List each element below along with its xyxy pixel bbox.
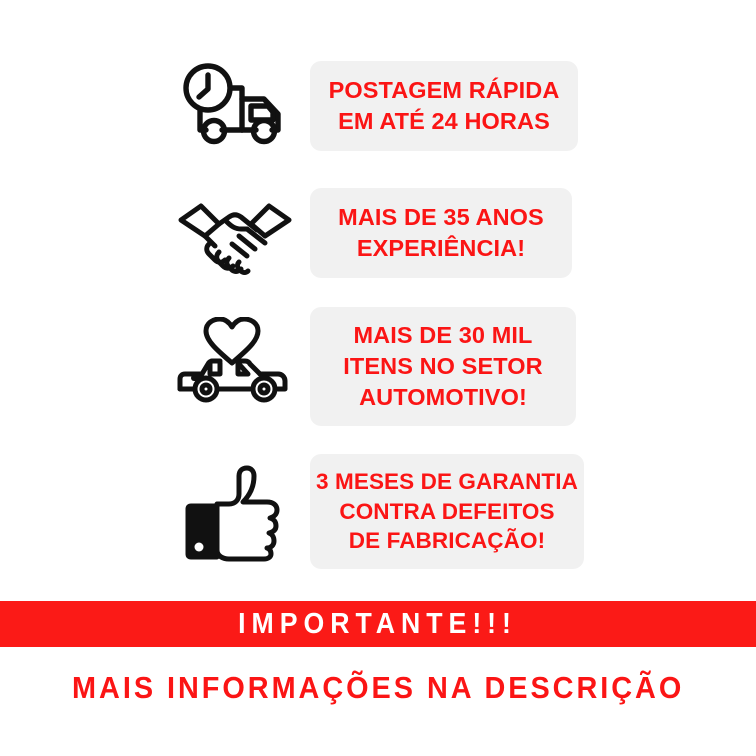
- feature-line: ITENS NO SETOR: [343, 351, 542, 382]
- thumbs-up-icon: [160, 462, 310, 562]
- feature-row: POSTAGEM RÁPIDA EM ATÉ 24 HORAS: [0, 40, 756, 172]
- feature-line: EM ATÉ 24 HORAS: [338, 106, 550, 137]
- feature-list: POSTAGEM RÁPIDA EM ATÉ 24 HORAS: [0, 0, 756, 590]
- feature-line: MAIS DE 30 MIL: [354, 320, 533, 351]
- description-label: MAIS INFORMAÇÕES NA DESCRIÇÃO: [72, 670, 684, 706]
- feature-row: MAIS DE 35 ANOS EXPERIÊNCIA!: [0, 172, 756, 294]
- feature-text-panel: 3 MESES DE GARANTIA CONTRA DEFEITOS DE F…: [310, 454, 584, 570]
- feature-line: MAIS DE 35 ANOS: [338, 202, 544, 233]
- convertible-car-heart-icon: [160, 317, 310, 417]
- promo-banner: POSTAGEM RÁPIDA EM ATÉ 24 HORAS: [0, 0, 756, 756]
- feature-text-panel: MAIS DE 30 MIL ITENS NO SETOR AUTOMOTIVO…: [310, 307, 576, 427]
- feature-line: 3 MESES DE GARANTIA: [316, 467, 578, 497]
- feature-line: AUTOMOTIVO!: [359, 382, 527, 413]
- delivery-truck-clock-icon: [160, 58, 310, 154]
- handshake-icon: [160, 188, 310, 278]
- description-callout: MAIS INFORMAÇÕES NA DESCRIÇÃO: [0, 660, 756, 716]
- feature-line: DE FABRICAÇÃO!: [349, 526, 545, 556]
- important-label: IMPORTANTE!!!: [239, 608, 518, 641]
- feature-row: 3 MESES DE GARANTIA CONTRA DEFEITOS DE F…: [0, 439, 756, 584]
- feature-text-panel: POSTAGEM RÁPIDA EM ATÉ 24 HORAS: [310, 61, 578, 152]
- feature-row: MAIS DE 30 MIL ITENS NO SETOR AUTOMOTIVO…: [0, 294, 756, 439]
- feature-line: POSTAGEM RÁPIDA: [329, 75, 560, 106]
- feature-line: CONTRA DEFEITOS: [339, 497, 554, 527]
- feature-line: EXPERIÊNCIA!: [357, 233, 525, 264]
- feature-text-panel: MAIS DE 35 ANOS EXPERIÊNCIA!: [310, 188, 572, 279]
- important-banner: IMPORTANTE!!!: [0, 601, 756, 647]
